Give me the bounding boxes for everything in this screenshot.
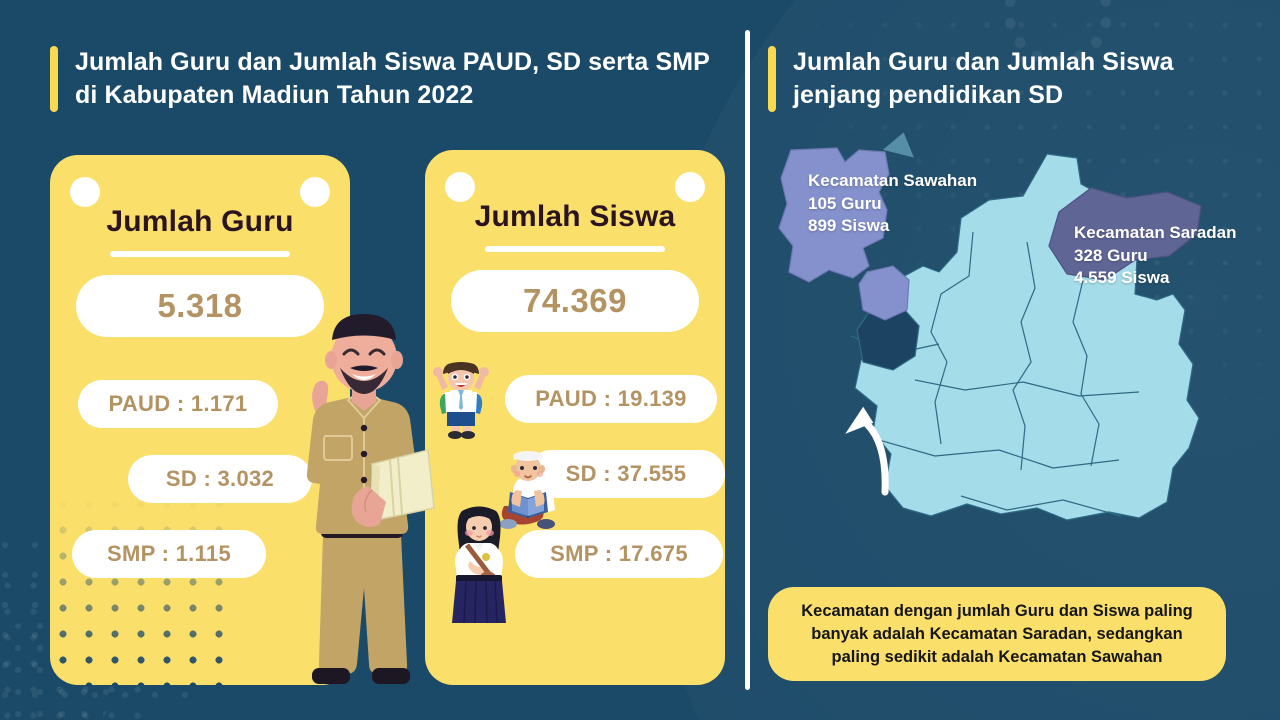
card-siswa-underline: [485, 246, 665, 252]
card-punch-hole-left: [445, 172, 475, 202]
card-punch-hole-right: [300, 177, 330, 207]
infographic-canvas: Jumlah Guru dan Jumlah Siswa PAUD, SD se…: [0, 0, 1280, 720]
map-annotation-saradan: Kecamatan Saradan 328 Guru 4.559 Siswa: [1074, 222, 1237, 290]
sawahan-students: 899 Siswa: [808, 215, 977, 238]
card-punch-hole-left: [70, 177, 100, 207]
card-siswa-row-paud: PAUD : 19.139: [505, 375, 717, 423]
elementary-boy-illustration: [430, 360, 492, 440]
title-accent-bar-right: [768, 46, 776, 112]
card-siswa-heading: Jumlah Siswa: [425, 200, 725, 234]
left-title-text: Jumlah Guru dan Jumlah Siswa PAUD, SD se…: [75, 46, 710, 112]
card-guru-heading: Jumlah Guru: [50, 205, 350, 239]
sawahan-teachers: 105 Guru: [808, 193, 977, 216]
right-panel-title: Jumlah Guru dan Jumlah Siswa jenjang pen…: [768, 46, 1228, 112]
sawahan-name: Kecamatan Sawahan: [808, 170, 977, 193]
saradan-name: Kecamatan Saradan: [1074, 222, 1237, 245]
title-accent-bar-left: [50, 46, 58, 112]
right-title-text: Jumlah Guru dan Jumlah Siswa jenjang pen…: [793, 46, 1228, 112]
saradan-students: 4.559 Siswa: [1074, 267, 1237, 290]
junior-high-girl-illustration: [448, 505, 510, 623]
map-annotation-sawahan: Kecamatan Sawahan 105 Guru 899 Siswa: [808, 170, 977, 238]
card-guru-row-paud: PAUD : 1.171: [78, 380, 278, 428]
card-guru-underline: [110, 251, 290, 257]
panel-divider: [745, 30, 750, 690]
card-siswa-row-smp: SMP : 17.675: [515, 530, 723, 578]
card-punch-hole-right: [675, 172, 705, 202]
card-siswa-total: 74.369: [451, 270, 699, 332]
card-guru-row-smp: SMP : 1.115: [72, 530, 266, 578]
saradan-teachers: 328 Guru: [1074, 245, 1237, 268]
map-caption: Kecamatan dengan jumlah Guru dan Siswa p…: [768, 587, 1226, 681]
left-panel-title: Jumlah Guru dan Jumlah Siswa PAUD, SD se…: [50, 46, 710, 112]
